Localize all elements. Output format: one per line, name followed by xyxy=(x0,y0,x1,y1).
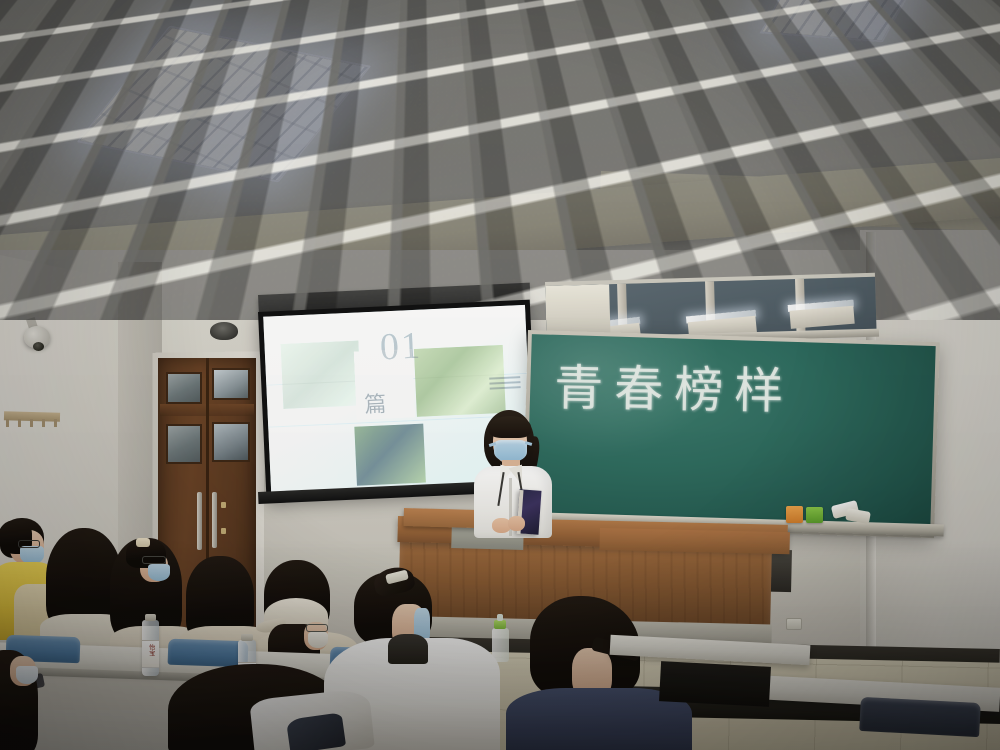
presenter xyxy=(462,406,566,536)
orange-chalk-holder-icon[interactable] xyxy=(786,506,803,523)
presenter-hand-right xyxy=(508,516,525,531)
attendee-glasses-icon xyxy=(18,540,40,548)
attendee-hair-clip-icon xyxy=(136,538,150,547)
slide-caption-lines xyxy=(489,376,521,389)
door-glass-panel-top-left xyxy=(166,372,202,404)
camera-lens-icon xyxy=(33,342,44,351)
attendee-glasses-icon xyxy=(142,556,166,564)
attendee-face-mask xyxy=(148,564,170,581)
green-chalk-holder-icon[interactable] xyxy=(806,507,823,523)
attendee-front-left xyxy=(0,636,56,750)
attendee-glasses-icon xyxy=(306,624,328,632)
attendee-face-mask xyxy=(308,632,328,648)
door-handle-left[interactable] xyxy=(197,492,202,550)
door-glass-panel-bottom-right xyxy=(212,422,250,462)
attendee-inner-top xyxy=(388,634,428,664)
attendee-face-mask xyxy=(16,666,38,684)
blackboard-frame: 青春榜样 xyxy=(522,330,940,538)
bottle-label: 怡宝 xyxy=(142,640,159,668)
bottle-cap xyxy=(241,634,253,641)
lectern-right-wing xyxy=(600,528,790,554)
chair-back-right[interactable] xyxy=(859,697,981,737)
desk-shadow-right xyxy=(659,661,771,707)
door-lock-lower[interactable] xyxy=(221,528,226,534)
door-lock-upper[interactable] xyxy=(221,502,226,508)
lecture-hall-photo: 01 篇 青春榜样 xyxy=(0,0,1000,750)
blackboard-surface: 青春榜样 xyxy=(526,334,935,534)
blackboard-chalk-text: 青春榜样 xyxy=(554,363,795,418)
bottle-cap xyxy=(145,614,156,621)
door-glass-panel-top-right xyxy=(212,368,250,400)
coat-hook-pegs xyxy=(6,419,58,427)
wall-power-outlet-icon[interactable] xyxy=(786,618,802,630)
ceiling-speaker-icon xyxy=(210,322,238,340)
presenter-face-mask xyxy=(494,440,527,462)
door-handle-right[interactable] xyxy=(212,492,217,548)
screen-glare xyxy=(263,305,430,495)
water-bottle-1[interactable]: 怡宝 xyxy=(142,620,159,676)
door-glass-panel-bottom-left xyxy=(166,424,202,464)
presenter-hair-front xyxy=(489,416,531,438)
